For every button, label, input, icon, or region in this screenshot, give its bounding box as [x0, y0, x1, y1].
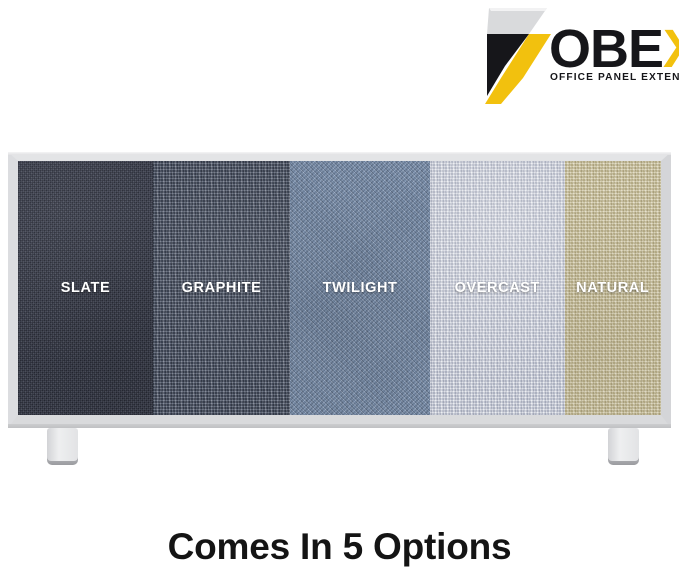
swatch-graphite: GRAPHITE — [153, 161, 290, 415]
foot-body — [47, 428, 78, 461]
brand-tagline: OFFICE PANEL EXTENDERS — [550, 71, 679, 83]
swatch-label-slate: SLATE — [18, 280, 153, 296]
swatch-overcast: OVERCAST — [430, 161, 564, 415]
brand-name-accent-letter: X — [663, 19, 679, 79]
brand-name-prefix: OBE — [549, 19, 663, 79]
fabric-swatch-strip: SLATE GRAPHITE TWILIGHT — [18, 161, 661, 415]
obex-logo: OBEX OFFICE PANEL EXTENDERS — [483, 4, 675, 104]
swatch-label-graphite: GRAPHITE — [153, 280, 290, 296]
swatch-label-overcast: OVERCAST — [430, 280, 564, 296]
swatch-twilight: TWILIGHT — [290, 161, 430, 415]
left-mounting-foot — [47, 428, 78, 466]
obex-wordmark: OBEX OFFICE PANEL EXTENDERS — [549, 22, 677, 88]
caption-text: Comes In 5 Options — [0, 524, 679, 570]
swatch-label-twilight: TWILIGHT — [290, 280, 430, 296]
right-mounting-foot — [608, 428, 639, 466]
swatch-label-natural: NATURAL — [565, 280, 661, 296]
obex-chevron-logo-icon — [483, 4, 555, 104]
brand-name: OBEX — [549, 22, 679, 76]
foot-body — [608, 428, 639, 461]
panel-extender-product-image: SLATE GRAPHITE TWILIGHT — [8, 152, 671, 467]
panel-frame: SLATE GRAPHITE TWILIGHT — [8, 152, 671, 428]
swatch-slate: SLATE — [18, 161, 153, 415]
swatch-natural: NATURAL — [565, 161, 661, 415]
